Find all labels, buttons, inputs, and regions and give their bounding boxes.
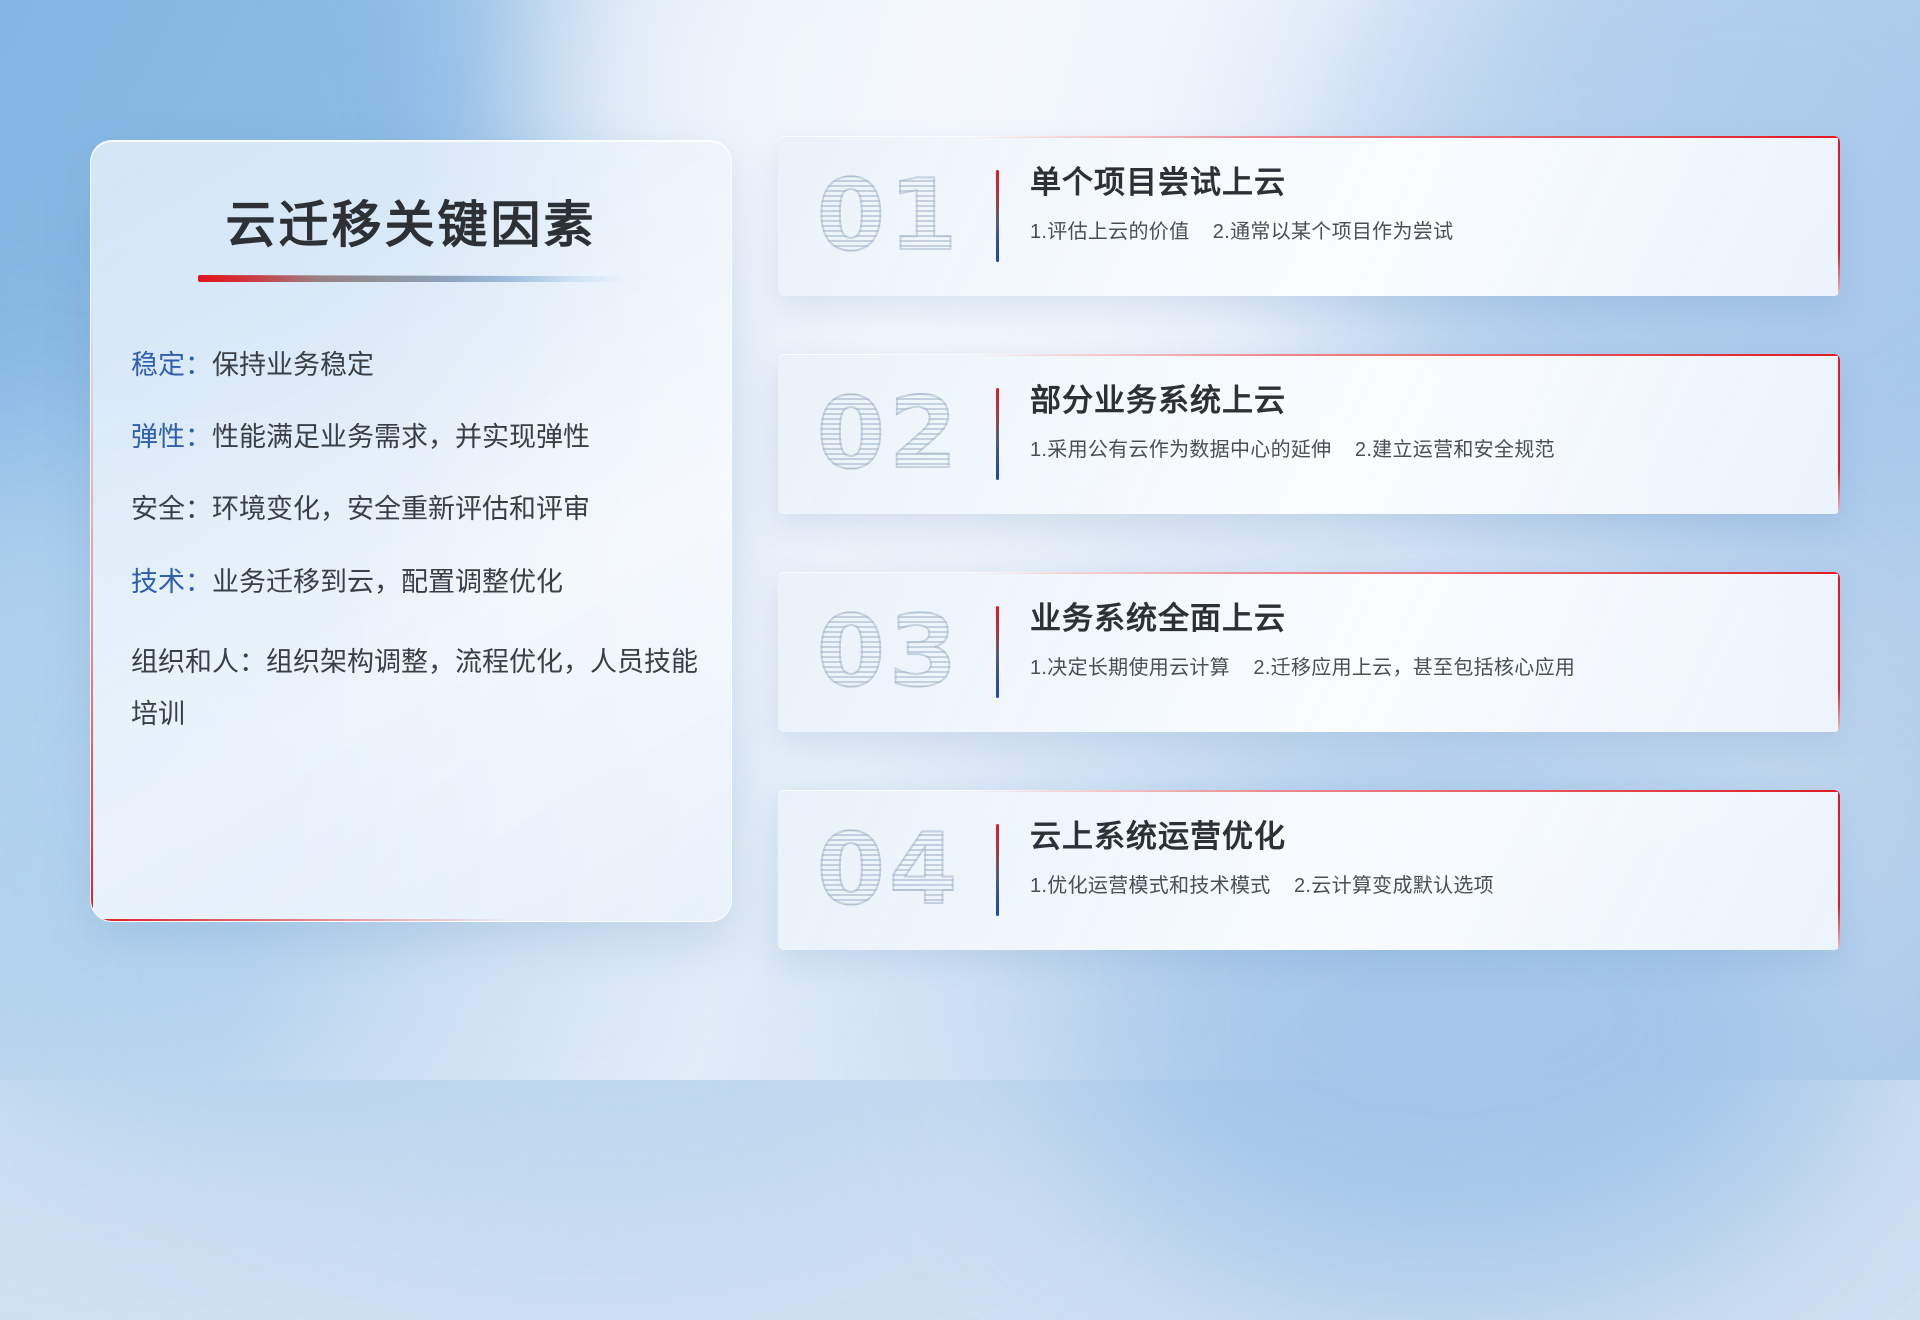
stage-number-watermark: 02 [804, 368, 974, 500]
list-item: 技术：业务迁移到云，配置调整优化 [131, 564, 705, 600]
stage-card-01[interactable]: 01 单个项目尝试上云 1.评估上云的价值 2.通常以某个项目作为尝试 [778, 136, 1840, 296]
stage-card-02[interactable]: 02 部分业务系统上云 1.采用公有云作为数据中心的延伸 2.建立运营和安全规范 [778, 354, 1840, 514]
stage-title: 单个项目尝试上云 [1030, 164, 1806, 203]
list-item: 稳定：保持业务稳定 [131, 347, 705, 383]
factor-label: 稳定： [131, 350, 212, 380]
stage-accent-bar [996, 388, 999, 480]
factor-text: 环境变化，安全重新评估和评审 [212, 494, 590, 524]
key-factors-list: 稳定：保持业务稳定 弹性：性能满足业务需求，并实现弹性 安全：环境变化，安全重新… [131, 347, 705, 777]
stage-accent-bar [996, 824, 999, 916]
stage-card-body: 业务系统全面上云 1.决定长期使用云计算 2.迁移应用上云，甚至包括核心应用 [1030, 600, 1806, 681]
list-item: 安全：环境变化，安全重新评估和评审 [131, 491, 705, 527]
stage-accent-bar [996, 170, 999, 262]
stage-subtitle: 1.决定长期使用云计算 2.迁移应用上云，甚至包括核心应用 [1030, 655, 1806, 681]
stage-title: 业务系统全面上云 [1030, 600, 1806, 639]
list-item: 组织和人：组织架构调整，流程优化，人员技能培训 [131, 636, 705, 741]
stage-card-03[interactable]: 03 业务系统全面上云 1.决定长期使用云计算 2.迁移应用上云，甚至包括核心应… [778, 572, 1840, 732]
migration-stage-list: 01 单个项目尝试上云 1.评估上云的价值 2.通常以某个项目作为尝试 02 部… [778, 136, 1840, 1008]
factor-label: 弹性： [131, 422, 212, 452]
factor-label: 技术： [131, 567, 212, 597]
stage-card-body: 云上系统运营优化 1.优化运营模式和技术模式 2.云计算变成默认选项 [1030, 818, 1806, 899]
stage-accent-bar [996, 606, 999, 698]
stage-subtitle: 1.优化运营模式和技术模式 2.云计算变成默认选项 [1030, 873, 1806, 899]
key-factors-panel: 云迁移关键因素 稳定：保持业务稳定 弹性：性能满足业务需求，并实现弹性 安全：环… [90, 140, 732, 922]
stage-title: 云上系统运营优化 [1030, 818, 1806, 857]
factor-label: 安全： [131, 494, 212, 524]
factor-label: 组织和人： [131, 647, 266, 677]
stage-card-body: 部分业务系统上云 1.采用公有云作为数据中心的延伸 2.建立运营和安全规范 [1030, 382, 1806, 463]
stage-number-watermark: 03 [804, 586, 974, 718]
stage-subtitle: 1.评估上云的价值 2.通常以某个项目作为尝试 [1030, 219, 1806, 245]
stage-card-body: 单个项目尝试上云 1.评估上云的价值 2.通常以某个项目作为尝试 [1030, 164, 1806, 245]
stage-subtitle: 1.采用公有云作为数据中心的延伸 2.建立运营和安全规范 [1030, 437, 1806, 463]
stage-number-watermark: 01 [804, 150, 974, 282]
stage-card-04[interactable]: 04 云上系统运营优化 1.优化运营模式和技术模式 2.云计算变成默认选项 [778, 790, 1840, 950]
factor-text: 保持业务稳定 [212, 350, 374, 380]
factor-text: 性能满足业务需求，并实现弹性 [212, 422, 590, 452]
stage-number-watermark: 04 [804, 804, 974, 936]
page-title: 云迁移关键因素 [91, 185, 731, 257]
factor-text: 业务迁移到云，配置调整优化 [212, 567, 563, 597]
title-underline-gradient [198, 275, 624, 282]
slide-stage: 云迁移关键因素 稳定：保持业务稳定 弹性：性能满足业务需求，并实现弹性 安全：环… [0, 0, 1920, 1080]
list-item: 弹性：性能满足业务需求，并实现弹性 [131, 419, 705, 455]
stage-title: 部分业务系统上云 [1030, 382, 1806, 421]
